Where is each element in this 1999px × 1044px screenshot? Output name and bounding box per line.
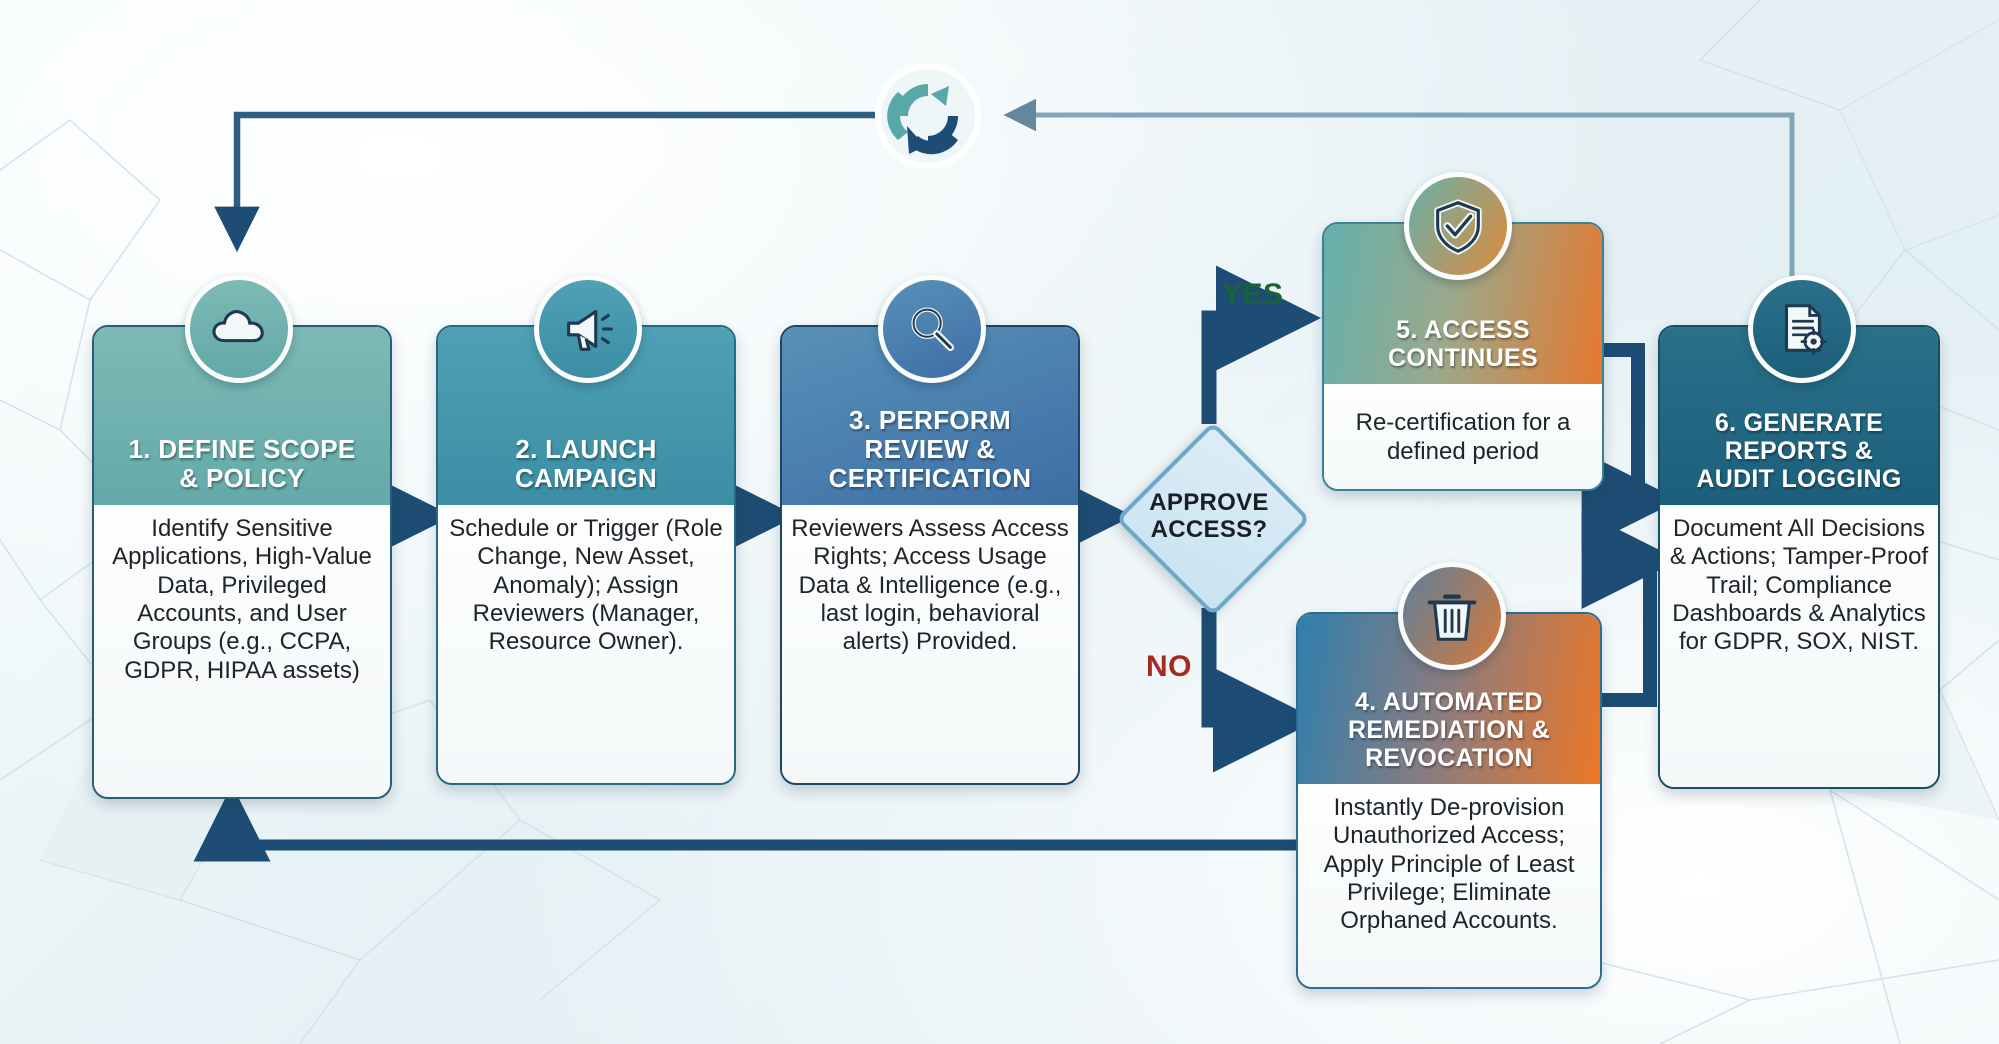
step-card-launch-campaign[interactable]: 2. LAUNCHCAMPAIGN Schedule or Trigger (R… [436,325,736,785]
step-3-body: Reviewers Assess Access Rights; Access U… [782,505,1078,783]
diagram-canvas: 1. DEFINE SCOPE& POLICY Identify Sensiti… [0,0,1999,1044]
trash-icon [1398,562,1506,670]
refresh-cycle-icon [874,62,982,170]
megaphone-icon [534,275,642,383]
decision-line-2: ACCESS? [1151,516,1268,543]
magnifier-icon [878,275,986,383]
shield-check-icon [1404,172,1512,280]
report-gear-icon [1748,275,1856,383]
step-5-body: Re-certification for a defined period [1324,384,1602,489]
step-card-perform-review[interactable]: 3. PERFORMREVIEW &CERTIFICATION Reviewer… [780,325,1080,785]
step-6-body: Document All Decisions & Actions; Tamper… [1660,505,1938,787]
decision-label: APPROVE ACCESS? [1124,470,1294,562]
branch-label-yes: YES [1222,278,1284,312]
step-card-generate-reports[interactable]: 6. GENERATEREPORTS &AUDIT LOGGING Docume… [1658,325,1940,789]
step-card-define-scope[interactable]: 1. DEFINE SCOPE& POLICY Identify Sensiti… [92,325,392,799]
decision-line-1: APPROVE [1149,489,1268,516]
branch-label-no: NO [1146,650,1192,684]
step-1-body: Identify Sensitive Applications, High-Va… [94,505,390,797]
step-4-body: Instantly De-provision Unauthorized Acce… [1298,784,1600,987]
step-2-body: Schedule or Trigger (Role Change, New As… [438,505,734,783]
cloud-icon [185,275,293,383]
